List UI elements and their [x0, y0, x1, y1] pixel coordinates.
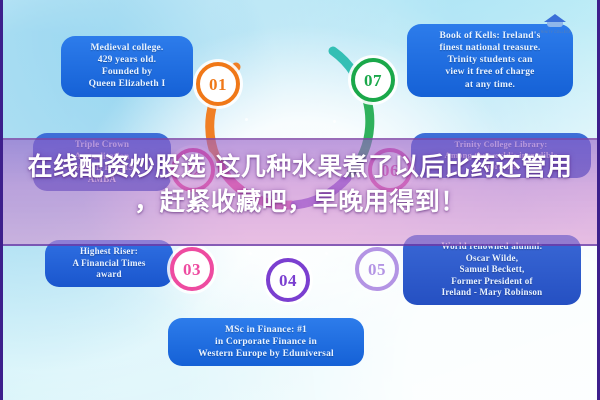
infographic-canvas: Medieval college. 429 years old. Founded… — [0, 0, 600, 400]
card-line: A Financial Times — [54, 258, 164, 270]
step-badge-label: 04 — [279, 272, 297, 289]
step-badge-label: 07 — [364, 72, 382, 89]
step-badge-label: 03 — [183, 261, 201, 278]
card-line: Trinity College Library: — [420, 139, 582, 150]
card-line: Samuel Beckett, — [412, 264, 572, 276]
connector-dot — [325, 252, 328, 255]
card-line: award — [54, 269, 164, 281]
card-line: Former President of — [412, 276, 572, 288]
cap-base — [547, 22, 563, 27]
card-line: World renowned alumni: — [412, 241, 572, 253]
info-card-medieval-college[interactable]: Medieval college. 429 years old. Founded… — [61, 36, 193, 97]
step-badge-03[interactable]: 03 — [170, 247, 214, 291]
step-badge-01[interactable]: 01 — [196, 62, 240, 106]
graduation-cap-icon: TRINITY COLLEGE — [527, 8, 583, 34]
ring-segment-teal — [333, 51, 354, 73]
step-badge-07[interactable]: 07 — [351, 58, 395, 102]
connector-dot — [245, 118, 248, 121]
card-line: Highest Riser: — [54, 246, 164, 258]
card-line: Western Europe by Eduniversal — [177, 348, 355, 360]
card-line: Trinity students can — [416, 54, 564, 66]
card-line: Ireland - Mary Robinson — [412, 287, 572, 299]
connector-dot — [249, 252, 252, 255]
info-card-highest-riser[interactable]: Highest Riser: A Financial Times award — [45, 240, 173, 287]
logo-wordmark: TRINITY COLLEGE — [527, 30, 583, 34]
headline-line-1: 在线配资炒股选 这几种水果煮了以后比药还管用 — [28, 152, 573, 181]
info-card-book-of-kells[interactable]: Book of Kells: Ireland's finest national… — [407, 24, 573, 97]
card-line: Medieval college. — [70, 42, 184, 54]
step-badge-05[interactable]: 05 — [355, 247, 399, 291]
step-badge-04[interactable]: 04 — [266, 258, 310, 302]
info-card-msc-finance[interactable]: MSc in Finance: #1 in Corporate Finance … — [168, 318, 364, 366]
cap-shape — [544, 14, 566, 28]
card-line: at any time. — [416, 79, 564, 91]
step-badge-label: 05 — [368, 261, 386, 278]
card-line: Founded by — [70, 66, 184, 78]
card-line: in Corporate Finance in — [177, 336, 355, 348]
headline-overlay: 在线配资炒股选 这几种水果煮了以后比药还管用 ，赶紧收藏吧，早晚用得到！ — [3, 150, 597, 219]
card-line: 429 years old. — [70, 54, 184, 66]
step-badge-label: 01 — [209, 76, 227, 93]
headline-line-2: ，赶紧收藏吧，早晚用得到！ — [3, 185, 597, 220]
card-line: MSc in Finance: #1 — [177, 324, 355, 336]
info-card-alumni[interactable]: World renowned alumni: Oscar Wilde, Samu… — [403, 235, 581, 305]
card-line: Oscar Wilde, — [412, 253, 572, 265]
card-line: Queen Elizabeth I — [70, 78, 184, 90]
card-line: Triple Crown — [42, 139, 162, 151]
card-line: finest national treasure. — [416, 42, 564, 54]
cap-top — [544, 14, 566, 22]
card-line: view it free of charge — [416, 66, 564, 78]
connector-dot — [333, 120, 336, 123]
